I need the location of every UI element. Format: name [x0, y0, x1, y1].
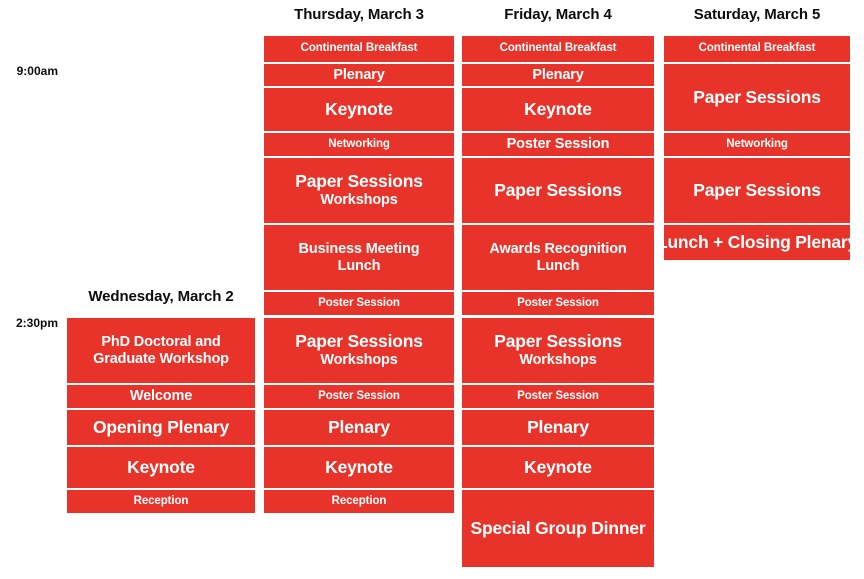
session-block[interactable]: Poster Session	[264, 385, 454, 408]
session-label: Awards Recognition	[489, 241, 626, 258]
session-block[interactable]: Paper Sessions	[664, 158, 850, 223]
session-block[interactable]: Poster Session	[462, 133, 654, 156]
session-block[interactable]: Plenary	[264, 410, 454, 445]
time-label: 9:00am	[8, 64, 58, 78]
day-column-wednesday: Wednesday, March 2PhD Doctoral andGradua…	[67, 0, 255, 579]
session-block[interactable]: Special Group Dinner	[462, 490, 654, 567]
session-label: Networking	[328, 138, 390, 151]
session-block[interactable]: Keynote	[264, 447, 454, 488]
session-label: Business Meeting	[299, 241, 420, 258]
session-label: Opening Plenary	[93, 418, 229, 438]
day-column-thursday: Thursday, March 3Continental BreakfastPl…	[264, 0, 454, 579]
session-label: Keynote	[325, 100, 393, 120]
session-label: Reception	[134, 495, 189, 508]
session-label: Plenary	[532, 67, 583, 84]
session-label: Lunch	[537, 258, 580, 275]
session-block[interactable]: Poster Session	[462, 292, 654, 315]
session-label: Lunch + Closing Plenary	[664, 233, 850, 253]
session-block[interactable]: Networking	[264, 133, 454, 156]
session-block[interactable]: Keynote	[462, 88, 654, 131]
session-label: Keynote	[524, 100, 592, 120]
time-label: 2:30pm	[8, 316, 58, 330]
session-label: Keynote	[325, 458, 393, 478]
session-label: Keynote	[127, 458, 195, 478]
day-header-saturday: Saturday, March 5	[664, 6, 850, 24]
session-label: PhD Doctoral and	[101, 334, 220, 351]
session-block[interactable]: Keynote	[264, 88, 454, 131]
session-label: Workshops	[320, 352, 397, 369]
session-block[interactable]: Keynote	[462, 447, 654, 488]
conference-schedule-grid: 9:00am2:30pm Wednesday, March 2PhD Docto…	[0, 0, 864, 579]
session-block[interactable]: Plenary	[462, 64, 654, 86]
session-label: Welcome	[130, 388, 192, 405]
session-label: Workshops	[320, 192, 397, 209]
session-label: Plenary	[333, 67, 384, 84]
session-block[interactable]: Opening Plenary	[67, 410, 255, 445]
day-header-wednesday: Wednesday, March 2	[67, 288, 255, 306]
session-label: Poster Session	[517, 297, 599, 310]
session-label: Paper Sessions	[693, 181, 821, 201]
session-label: Graduate Workshop	[93, 351, 229, 368]
day-header-thursday: Thursday, March 3	[264, 6, 454, 24]
session-block[interactable]: Reception	[67, 490, 255, 513]
session-label: Reception	[332, 495, 387, 508]
session-block[interactable]: Continental Breakfast	[664, 36, 850, 62]
day-header-friday: Friday, March 4	[462, 6, 654, 24]
session-label: Keynote	[524, 458, 592, 478]
session-label: Poster Session	[507, 136, 610, 153]
session-label: Workshops	[519, 352, 596, 369]
day-column-friday: Friday, March 4Continental BreakfastPlen…	[462, 0, 654, 579]
session-label: Continental Breakfast	[699, 42, 816, 55]
session-label: Poster Session	[517, 390, 599, 403]
session-block[interactable]: Reception	[264, 490, 454, 513]
session-label: Special Group Dinner	[471, 519, 646, 539]
session-label: Plenary	[527, 418, 589, 438]
session-block[interactable]: Awards RecognitionLunch	[462, 225, 654, 290]
session-label: Continental Breakfast	[500, 42, 617, 55]
session-block[interactable]: Paper SessionsWorkshops	[264, 318, 454, 383]
session-label: Networking	[726, 138, 788, 151]
session-block[interactable]: Business MeetingLunch	[264, 225, 454, 290]
session-label: Paper Sessions	[295, 172, 423, 192]
session-block[interactable]: Plenary	[462, 410, 654, 445]
session-block[interactable]: PhD Doctoral andGraduate Workshop	[67, 318, 255, 383]
session-block[interactable]: Welcome	[67, 385, 255, 408]
session-block[interactable]: Networking	[664, 133, 850, 156]
session-block[interactable]: Poster Session	[264, 292, 454, 315]
session-label: Poster Session	[318, 390, 400, 403]
session-label: Lunch	[338, 258, 381, 275]
session-label: Paper Sessions	[693, 88, 821, 108]
session-label: Paper Sessions	[494, 332, 622, 352]
session-block[interactable]: Paper SessionsWorkshops	[462, 318, 654, 383]
session-label: Paper Sessions	[295, 332, 423, 352]
session-block[interactable]: Poster Session	[462, 385, 654, 408]
session-block[interactable]: Continental Breakfast	[462, 36, 654, 62]
session-label: Plenary	[328, 418, 390, 438]
session-label: Continental Breakfast	[301, 42, 418, 55]
session-block[interactable]: Plenary	[264, 64, 454, 86]
session-block[interactable]: Keynote	[67, 447, 255, 488]
session-label: Poster Session	[318, 297, 400, 310]
session-block[interactable]: Paper SessionsWorkshops	[264, 158, 454, 223]
session-block[interactable]: Continental Breakfast	[264, 36, 454, 62]
day-column-saturday: Saturday, March 5Continental BreakfastPa…	[664, 0, 850, 579]
session-block[interactable]: Lunch + Closing Plenary	[664, 225, 850, 260]
session-label: Paper Sessions	[494, 181, 622, 201]
session-block[interactable]: Paper Sessions	[664, 64, 850, 131]
session-block[interactable]: Paper Sessions	[462, 158, 654, 223]
